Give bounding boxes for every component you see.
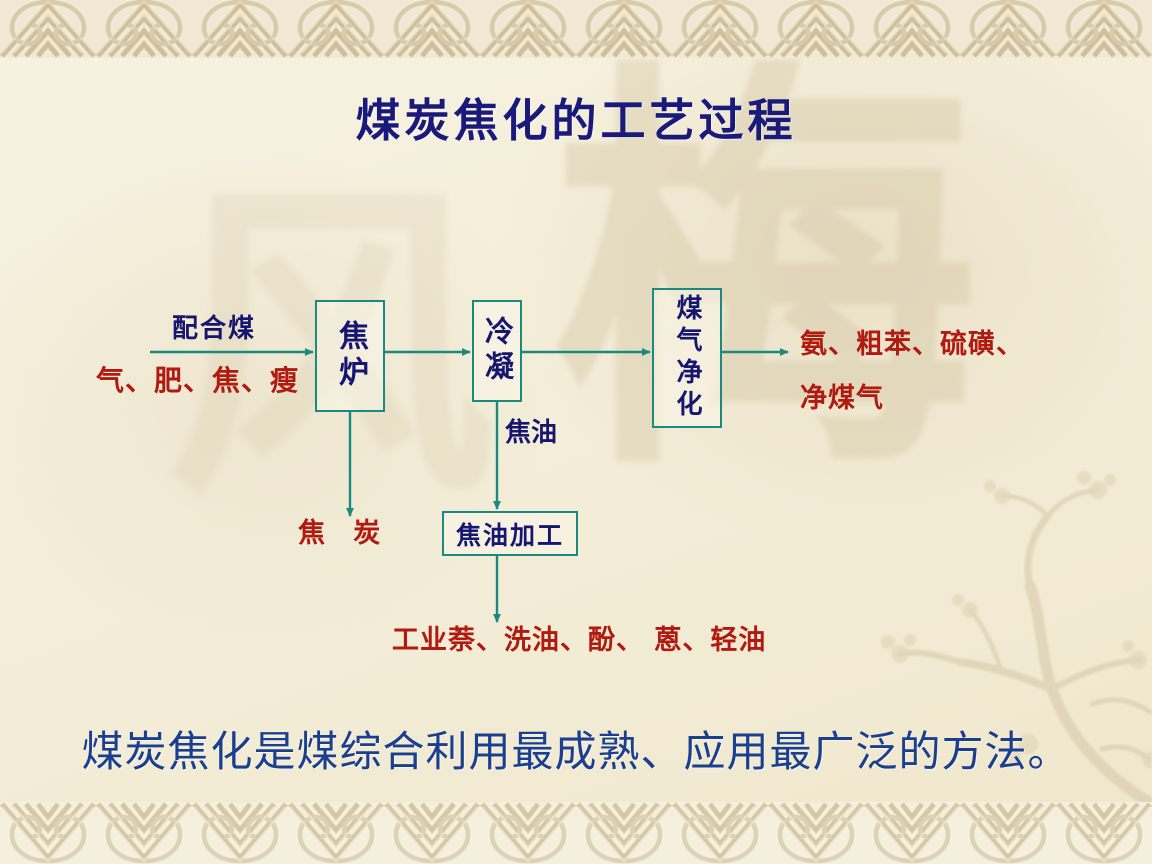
page-title: 煤炭焦化的工艺过程 [0,84,1152,149]
label-coke-product: 焦 炭 [298,517,380,551]
label-feed-blend-coal: 配合煤 [172,313,256,346]
label-tar-products: 工业萘、洗油、酚、 蒽、轻油 [392,624,766,658]
node-tar-processing[interactable]: 焦油加工 [442,511,578,556]
slide-canvas: 梅 风 [0,0,1152,864]
label-feed-coal-types: 气、肥、焦、瘦 [96,363,299,398]
decorative-border-bottom [0,802,1152,864]
slide-caption: 煤炭焦化是煤综合利用最成熟、应用最广泛的方法。 [0,718,1152,779]
label-gas-products-line1: 氨、粗苯、硫磺、 [800,328,1024,362]
node-condenser[interactable]: 冷凝 [472,300,522,402]
label-gas-products-line2: 净煤气 [800,382,884,416]
label-tar-flow: 焦油 [505,417,535,450]
node-gas-purification[interactable]: 煤气净化 [652,288,722,428]
node-coke-oven[interactable]: 焦炉 [315,300,385,412]
decorative-border-top [0,0,1152,58]
